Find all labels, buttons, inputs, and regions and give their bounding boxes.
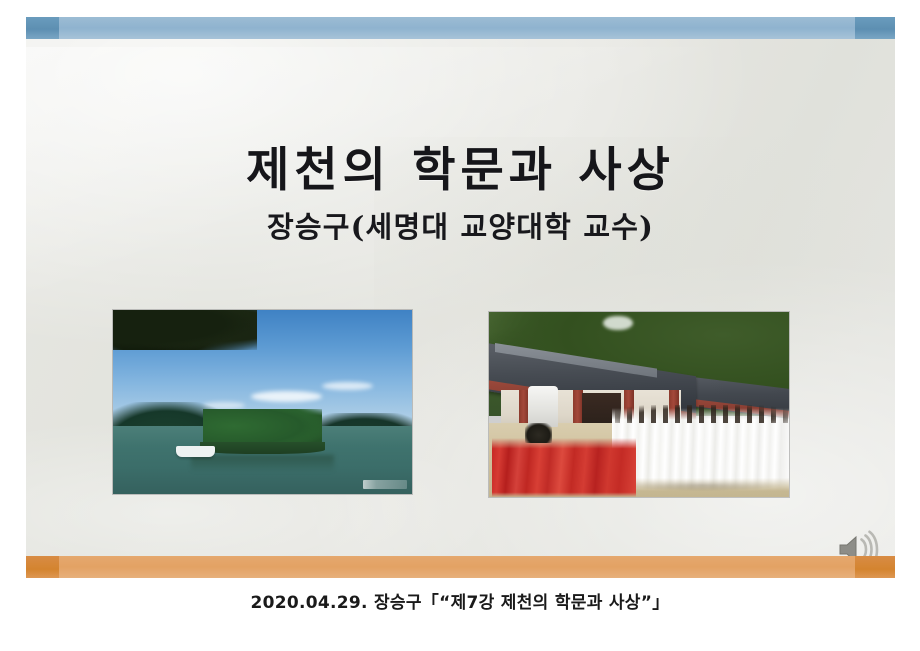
- bottom-band-middle: [59, 556, 855, 578]
- hyanggyo-ceremony-photo: [489, 312, 789, 497]
- top-band-left-cap: [26, 17, 59, 39]
- presentation-slide[interactable]: 제천의 학문과 사상 장승구(세명대 교양대학 교수): [26, 17, 895, 578]
- slide-bottom-band: [26, 556, 895, 578]
- photo-watermark: [363, 480, 407, 489]
- bottom-band-left-cap: [26, 556, 59, 578]
- ceremony-red-robed-participants: [492, 438, 636, 497]
- slide-top-band: [26, 17, 895, 39]
- uirimji-lake-photo: [113, 310, 412, 494]
- lake-island-base: [200, 442, 326, 453]
- top-band-right-cap: [855, 17, 895, 39]
- bottom-band-right-cap: [855, 556, 895, 578]
- slide-subtitle: 장승구(세명대 교양대학 교수): [26, 204, 895, 246]
- lake-pine-branches: [113, 310, 257, 350]
- top-band-middle: [59, 17, 855, 39]
- ceremony-ritual-banner: [528, 386, 558, 427]
- lake-reflection: [191, 455, 335, 472]
- title-block: 제천의 학문과 사상 장승구(세명대 교양대학 교수): [26, 145, 895, 246]
- slide-title: 제천의 학문과 사상: [26, 145, 895, 198]
- page-canvas: 제천의 학문과 사상 장승구(세명대 교양대학 교수): [0, 0, 920, 651]
- lake-boat: [176, 446, 215, 457]
- slide-caption: 2020.04.29. 장승구「“제7강 제천의 학문과 사상”」: [0, 588, 920, 613]
- lake-cloud: [322, 382, 373, 390]
- ceremony-ceremonial-hat: [525, 423, 552, 443]
- ceremony-participant-heads: [612, 405, 789, 424]
- lake-cloud: [251, 391, 323, 402]
